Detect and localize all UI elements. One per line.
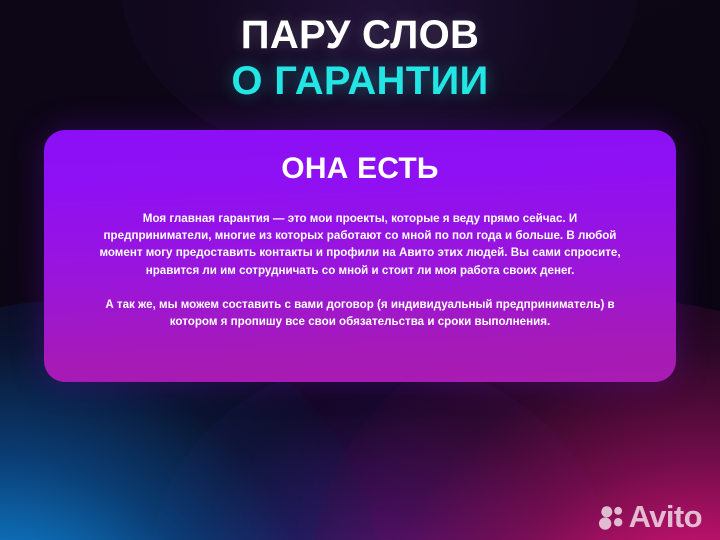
avito-dots-icon xyxy=(598,504,624,530)
guarantee-card: ОНА ЕСТЬ Моя главная гарантия — это мои … xyxy=(44,130,676,382)
card-paragraph: Моя главная гарантия — это мои проекты, … xyxy=(90,210,630,279)
avito-watermark: Avito xyxy=(598,501,702,532)
avito-wordmark: Avito xyxy=(629,501,702,532)
slide-canvas: ПАРУ СЛОВ О ГАРАНТИИ ОНА ЕСТЬ Моя главна… xyxy=(0,0,720,540)
headline: ПАРУ СЛОВ О ГАРАНТИИ xyxy=(0,12,720,104)
headline-line-accent: О ГАРАНТИИ xyxy=(0,58,720,104)
card-body: Моя главная гарантия — это мои проекты, … xyxy=(90,210,630,330)
card-paragraph: А так же, мы можем составить с вами дого… xyxy=(90,296,630,330)
card-title: ОНА ЕСТЬ xyxy=(90,148,630,188)
headline-line-primary: ПАРУ СЛОВ xyxy=(0,12,720,58)
